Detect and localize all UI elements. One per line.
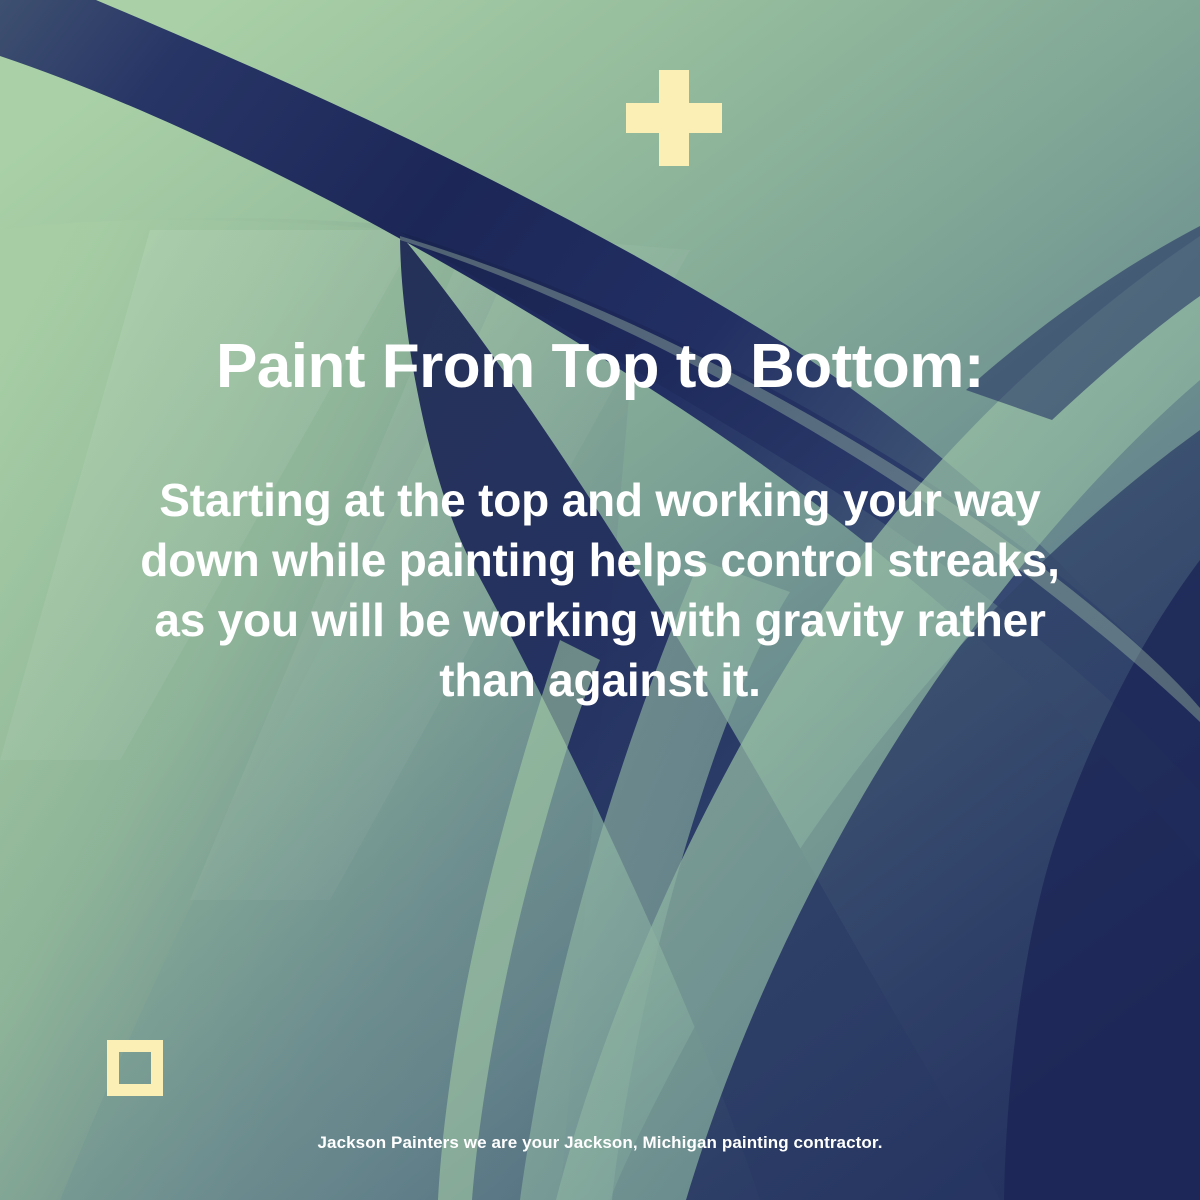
social-graphic-canvas: Paint From Top to Bottom: Starting at th… bbox=[0, 0, 1200, 1200]
message-block: Paint From Top to Bottom: Starting at th… bbox=[100, 330, 1100, 710]
footer-caption: Jackson Painters we are your Jackson, Mi… bbox=[0, 1133, 1200, 1153]
square-outline-icon bbox=[107, 1040, 163, 1096]
page-title: Paint From Top to Bottom: bbox=[100, 330, 1100, 404]
body-text: Starting at the top and working your way… bbox=[100, 470, 1100, 710]
plus-icon bbox=[626, 70, 722, 166]
